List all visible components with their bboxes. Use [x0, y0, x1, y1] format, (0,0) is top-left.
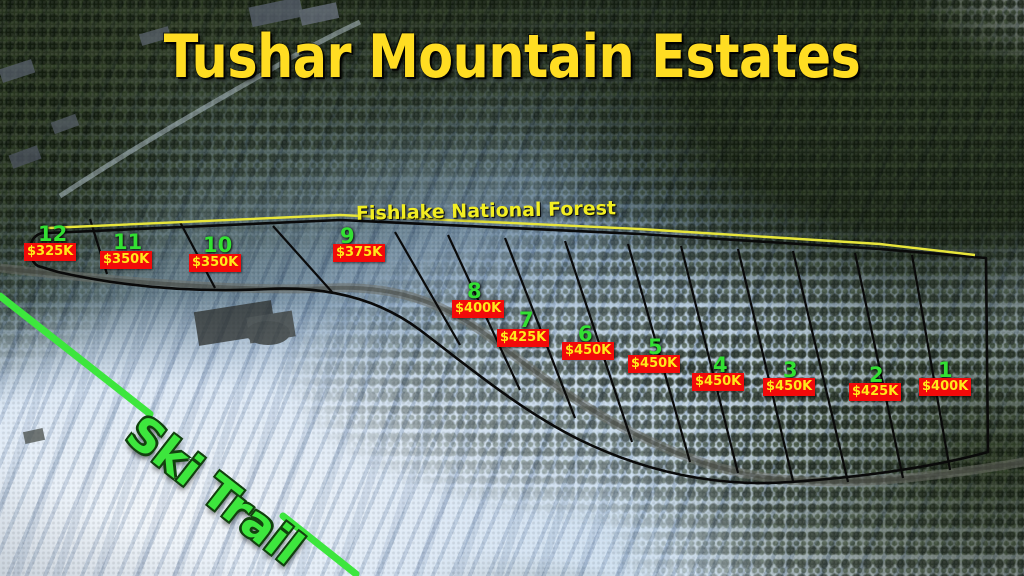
lot-price-badge-1[interactable]: $400K — [919, 378, 971, 396]
lot-price-badge-4[interactable]: $450K — [692, 373, 744, 391]
aerial-lot-map: Tushar Mountain Estates Fishlake Nationa… — [0, 0, 1024, 576]
page-title: Tushar Mountain Estates — [31, 22, 994, 92]
lot-price-badge-8[interactable]: $400K — [452, 300, 504, 318]
lot-number-8[interactable]: 8 — [467, 281, 482, 302]
lot-price-badge-6[interactable]: $450K — [562, 342, 614, 360]
parcel-divider-8 — [681, 246, 738, 473]
lot-price-badge-9[interactable]: $375K — [333, 244, 385, 262]
lot-number-7[interactable]: 7 — [519, 310, 534, 331]
lot-price-badge-3[interactable]: $450K — [763, 378, 815, 396]
lot-price-badge-2[interactable]: $425K — [849, 383, 901, 401]
lot-number-10[interactable]: 10 — [203, 235, 232, 256]
lot-number-12[interactable]: 12 — [38, 224, 67, 245]
lot-price-badge-5[interactable]: $450K — [628, 355, 680, 373]
lot-price-badge-11[interactable]: $350K — [100, 251, 152, 269]
parcel-divider-2 — [273, 226, 332, 292]
lot-price-badge-12[interactable]: $325K — [24, 243, 76, 261]
lot-price-badge-7[interactable]: $425K — [497, 329, 549, 347]
ski-trail-line-upper — [0, 296, 150, 414]
lot-price-badge-10[interactable]: $350K — [189, 254, 241, 272]
lot-number-11[interactable]: 11 — [113, 232, 142, 253]
parcel-divider-5 — [505, 238, 575, 418]
parcel-divider-3 — [395, 232, 460, 345]
parcel-divider-10 — [793, 251, 848, 482]
